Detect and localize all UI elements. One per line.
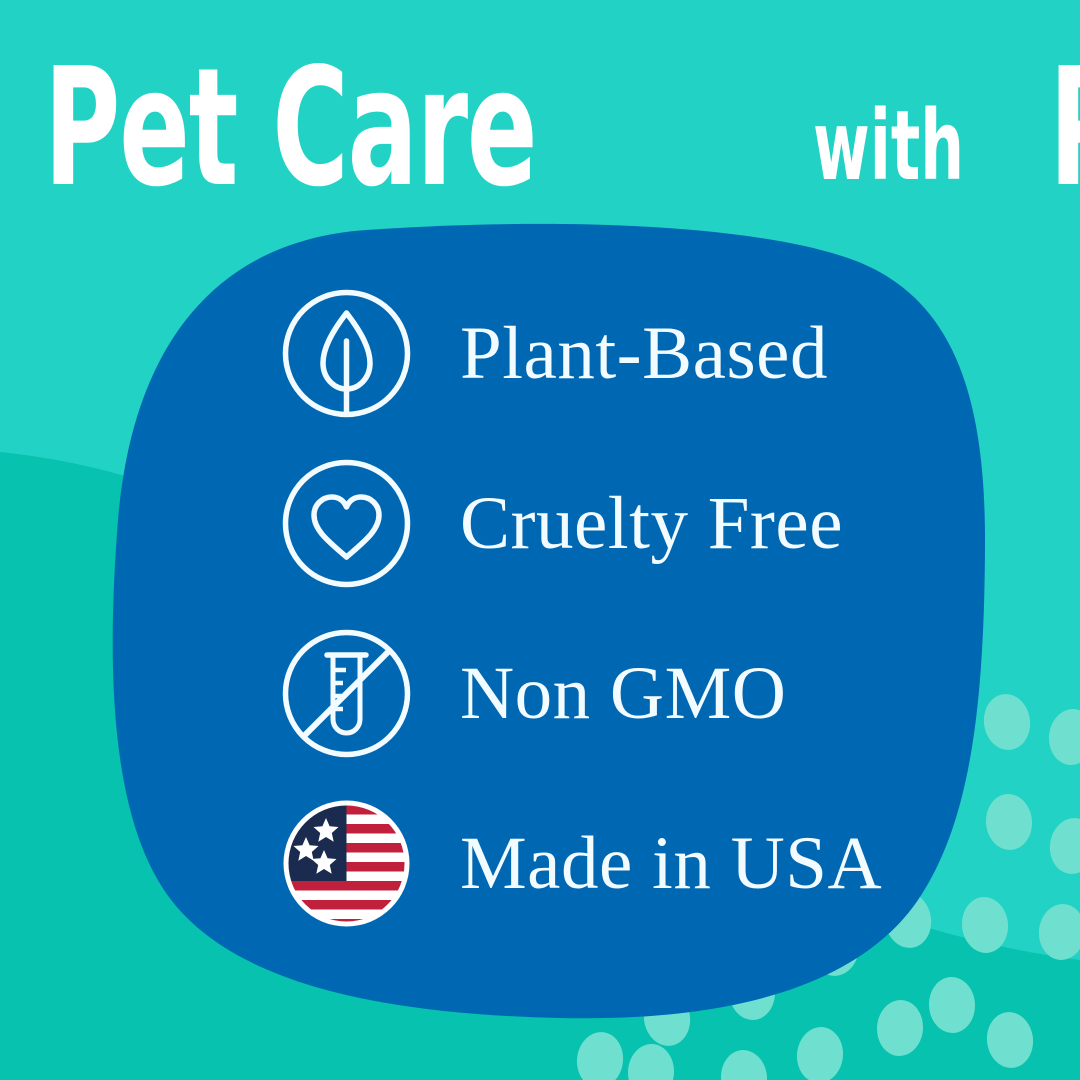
claim-row-non-gmo: Non GMO — [276, 623, 976, 764]
claim-row-cruelty-free: Cruelty Free — [276, 453, 976, 594]
heart-circle-icon — [276, 453, 417, 594]
claim-label-made-in-usa: Made in USA — [460, 826, 882, 901]
page-title: Pet Care with Purpose ® — [44, 14, 1054, 204]
claim-row-made-in-usa: Made in USA — [276, 793, 976, 934]
claim-label-non-gmo: Non GMO — [460, 656, 786, 731]
title-part-with: with — [813, 102, 964, 190]
claims-list: Plant-Based Cruelty Free — [276, 283, 976, 934]
leaf-circle-icon — [276, 283, 417, 424]
claim-label-plant-based: Plant-Based — [460, 316, 828, 391]
title-part-purpose: Purpose — [1049, 54, 1080, 204]
claim-label-cruelty-free: Cruelty Free — [460, 486, 843, 561]
no-test-tube-icon — [276, 623, 417, 764]
usa-flag-circle-icon — [276, 793, 417, 934]
title-part-pet-care: Pet Care — [44, 54, 536, 204]
claim-row-plant-based: Plant-Based — [276, 283, 976, 424]
pet-care-with-purpose-graphic: Pet Care with Purpose ® Plant-Based Crue… — [0, 0, 1080, 1080]
